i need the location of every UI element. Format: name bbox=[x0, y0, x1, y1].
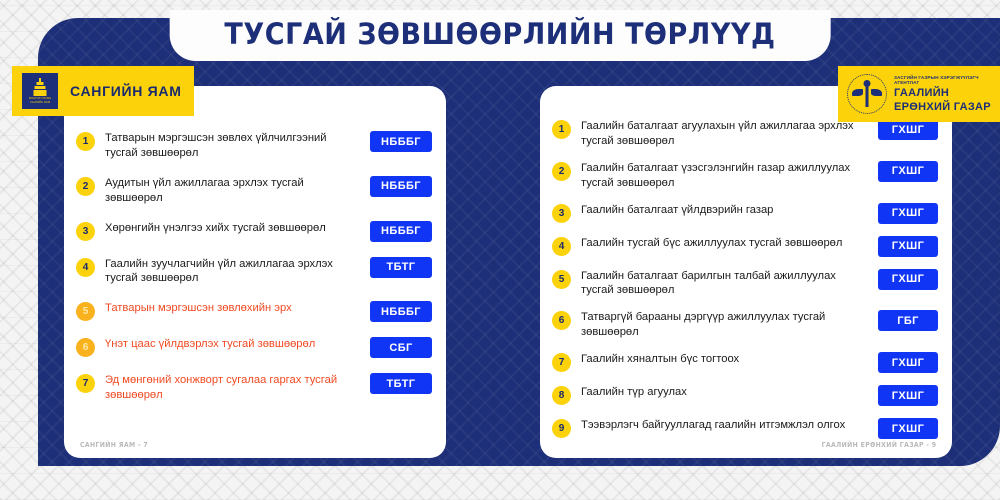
license-row[interactable]: 4Гаалийн тусгай бүс ажиллуулах тусгай зө… bbox=[552, 235, 938, 257]
license-row[interactable]: 1Гаалийн баталгаат агуулахын үйл ажиллаг… bbox=[552, 118, 938, 149]
authority-badge[interactable]: НБББГ bbox=[370, 176, 432, 197]
license-row-label: Тээвэрлэгч байгууллагад гаалийн итгэмжлэ… bbox=[581, 417, 868, 433]
left_panel-row-number-badge: 5 bbox=[76, 302, 95, 321]
authority-badge[interactable]: ГХШГ bbox=[878, 352, 938, 373]
right_panel-row-number-badge: 9 bbox=[552, 419, 571, 438]
authority-badge[interactable]: ГБГ bbox=[878, 310, 938, 331]
authority-badge[interactable]: ГХШГ bbox=[878, 269, 938, 290]
license-row[interactable]: 3Гаалийн баталгаат үйлдвэрийн газарГХШГ bbox=[552, 202, 938, 224]
ministry-of-finance-logo-icon: МОНГОЛ УЛСЫН САНГИЙН ЯАМ bbox=[22, 73, 58, 109]
left_panel-row-number-badge: 7 bbox=[76, 374, 95, 393]
license-row-label: Үнэт цаас үйлдвэрлэх тусгай зөвшөөрөл bbox=[105, 336, 360, 352]
license-row[interactable]: 5Гаалийн баталгаат барилгын талбай ажилл… bbox=[552, 268, 938, 299]
right_panel-row-number-badge: 2 bbox=[552, 162, 571, 181]
authority-badge[interactable]: ГХШГ bbox=[878, 418, 938, 439]
license-row-label: Гаалийн баталгаат үйлдвэрийн газар bbox=[581, 202, 868, 218]
left_panel-row-number-badge: 6 bbox=[76, 338, 95, 357]
right_panel-row-number-badge: 6 bbox=[552, 311, 571, 330]
left_panel-row-number-badge: 2 bbox=[76, 177, 95, 196]
license-row[interactable]: 6Үнэт цаас үйлдвэрлэх тусгай зөвшөөрөлСБ… bbox=[76, 336, 432, 358]
left-license-list: 1Татварын мэргэшсэн зөвлөх үйлчилгээний … bbox=[64, 130, 446, 417]
left-panel-title: САНГИЙН ЯАМ bbox=[70, 83, 182, 99]
agency-title-line1: ГААЛИЙН bbox=[894, 87, 1000, 99]
license-row[interactable]: 6Татваргүй барааны дэргүүр ажиллуулах ту… bbox=[552, 309, 938, 340]
license-row[interactable]: 2Аудитын үйл ажиллагаа эрхлэх тусгай зөв… bbox=[76, 175, 432, 206]
license-row[interactable]: 7Гаалийн хяналтын бүс тогтоохГХШГ bbox=[552, 351, 938, 373]
license-row-label: Гаалийн хяналтын бүс тогтоох bbox=[581, 351, 868, 367]
left_panel-row-number-badge: 1 bbox=[76, 132, 95, 151]
authority-badge[interactable]: ТБТГ bbox=[370, 373, 432, 394]
authority-badge[interactable]: ГХШГ bbox=[878, 119, 938, 140]
license-row-label: Татварын мэргэшсэн зөвлөх үйлчилгээний т… bbox=[105, 130, 360, 161]
right-panel-title-group: ЗАСГИЙН ГАЗРЫН ХЭРЭГЖҮҮЛЭГЧ АГЕНТЛАГ ГАА… bbox=[894, 75, 1000, 114]
left_panel-row-number-badge: 4 bbox=[76, 258, 95, 277]
right_panel-row-number-badge: 7 bbox=[552, 353, 571, 372]
license-row-label: Аудитын үйл ажиллагаа эрхлэх тусгай зөвш… bbox=[105, 175, 360, 206]
license-row[interactable]: 1Татварын мэргэшсэн зөвлөх үйлчилгээний … bbox=[76, 130, 432, 161]
license-row-label: Эд мөнгөний хонжворт сугалаа гаргах тусг… bbox=[105, 372, 360, 403]
wing-right-icon bbox=[871, 89, 882, 96]
license-row-label: Гаалийн зуучлагчийн үйл ажиллагаа эрхлэх… bbox=[105, 256, 360, 287]
logo-caption: МОНГОЛ УЛСЫН САНГИЙН ЯАМ bbox=[23, 97, 57, 103]
right_panel-row-number-badge: 1 bbox=[552, 120, 571, 139]
left-card-footer: САНГИЙН ЯАМ - 7 bbox=[80, 441, 148, 449]
agency-title-line2: ЕРӨНХИЙ ГАЗАР bbox=[894, 101, 1000, 113]
right-license-list: 1Гаалийн баталгаат агуулахын үйл ажиллаг… bbox=[540, 118, 952, 450]
wing-left-icon bbox=[852, 89, 863, 96]
license-row-label: Гаалийн баталгаат барилгын талбай ажиллу… bbox=[581, 268, 868, 299]
license-row-label: Татваргүй барааны дэргүүр ажиллуулах тус… bbox=[581, 309, 868, 340]
license-row[interactable]: 4Гаалийн зуучлагчийн үйл ажиллагаа эрхлэ… bbox=[76, 256, 432, 287]
agency-subtitle: ЗАСГИЙН ГАЗРЫН ХЭРЭГЖҮҮЛЭГЧ АГЕНТЛАГ bbox=[894, 75, 1000, 85]
authority-badge[interactable]: ГХШГ bbox=[878, 385, 938, 406]
left-license-card: 1Татварын мэргэшсэн зөвлөх үйлчилгээний … bbox=[64, 86, 446, 458]
license-row[interactable]: 9Тээвэрлэгч байгууллагад гаалийн итгэмжл… bbox=[552, 417, 938, 439]
license-row-label: Хөрөнгийн үнэлгээ хийх тусгай зөвшөөрөл bbox=[105, 220, 360, 236]
left-panel-header-tab: МОНГОЛ УЛСЫН САНГИЙН ЯАМ САНГИЙН ЯАМ bbox=[12, 66, 194, 116]
license-row-label: Гаалийн түр агуулах bbox=[581, 384, 868, 400]
license-row[interactable]: 2Гаалийн баталгаат үзэсгэлэнгийн газар а… bbox=[552, 160, 938, 191]
right-license-card: 1Гаалийн баталгаат агуулахын үйл ажиллаг… bbox=[540, 86, 952, 458]
slide-title-banner: ТУСГАЙ ЗӨВШӨӨРЛИЙН ТӨРЛҮҮД bbox=[170, 10, 831, 61]
license-row-label: Гаалийн баталгаат агуулахын үйл ажиллага… bbox=[581, 118, 868, 149]
soyombo-mark-icon bbox=[34, 78, 47, 96]
right_panel-row-number-badge: 3 bbox=[552, 204, 571, 223]
license-row[interactable]: 5Татварын мэргэшсэн зөвлөхийн эрхНБББГ bbox=[76, 300, 432, 322]
left_panel-row-number-badge: 3 bbox=[76, 222, 95, 241]
infographic-slide: ТУСГАЙ ЗӨВШӨӨРЛИЙН ТӨРЛҮҮД МОНГОЛ УЛСЫН … bbox=[0, 0, 1000, 500]
license-row[interactable]: 7Эд мөнгөний хонжворт сугалаа гаргах тус… bbox=[76, 372, 432, 403]
right_panel-row-number-badge: 8 bbox=[552, 386, 571, 405]
customs-caduceus-logo-icon bbox=[847, 74, 887, 114]
page-title: ТУСГАЙ ЗӨВШӨӨРЛИЙН ТӨРЛҮҮД bbox=[224, 20, 775, 49]
authority-badge[interactable]: ГХШГ bbox=[878, 161, 938, 182]
right-card-footer: ГААЛИЙН ЕРӨНХИЙ ГАЗАР - 9 bbox=[821, 441, 936, 449]
authority-badge[interactable]: НБББГ bbox=[370, 131, 432, 152]
authority-badge[interactable]: НБББГ bbox=[370, 221, 432, 242]
license-row-label: Гаалийн тусгай бүс ажиллуулах тусгай зөв… bbox=[581, 235, 868, 251]
right_panel-row-number-badge: 5 bbox=[552, 270, 571, 289]
license-row[interactable]: 3Хөрөнгийн үнэлгээ хийх тусгай зөвшөөрөл… bbox=[76, 220, 432, 242]
authority-badge[interactable]: НБББГ bbox=[370, 301, 432, 322]
authority-badge[interactable]: СБГ bbox=[370, 337, 432, 358]
authority-badge[interactable]: ТБТГ bbox=[370, 257, 432, 278]
staff-head-icon bbox=[864, 80, 871, 87]
authority-badge[interactable]: ГХШГ bbox=[878, 203, 938, 224]
license-row-label: Гаалийн баталгаат үзэсгэлэнгийн газар аж… bbox=[581, 160, 868, 191]
right_panel-row-number-badge: 4 bbox=[552, 237, 571, 256]
license-row[interactable]: 8Гаалийн түр агуулахГХШГ bbox=[552, 384, 938, 406]
authority-badge[interactable]: ГХШГ bbox=[878, 236, 938, 257]
license-row-label: Татварын мэргэшсэн зөвлөхийн эрх bbox=[105, 300, 360, 316]
right-panel-header-tab: ЗАСГИЙН ГАЗРЫН ХЭРЭГЖҮҮЛЭГЧ АГЕНТЛАГ ГАА… bbox=[838, 66, 1000, 122]
